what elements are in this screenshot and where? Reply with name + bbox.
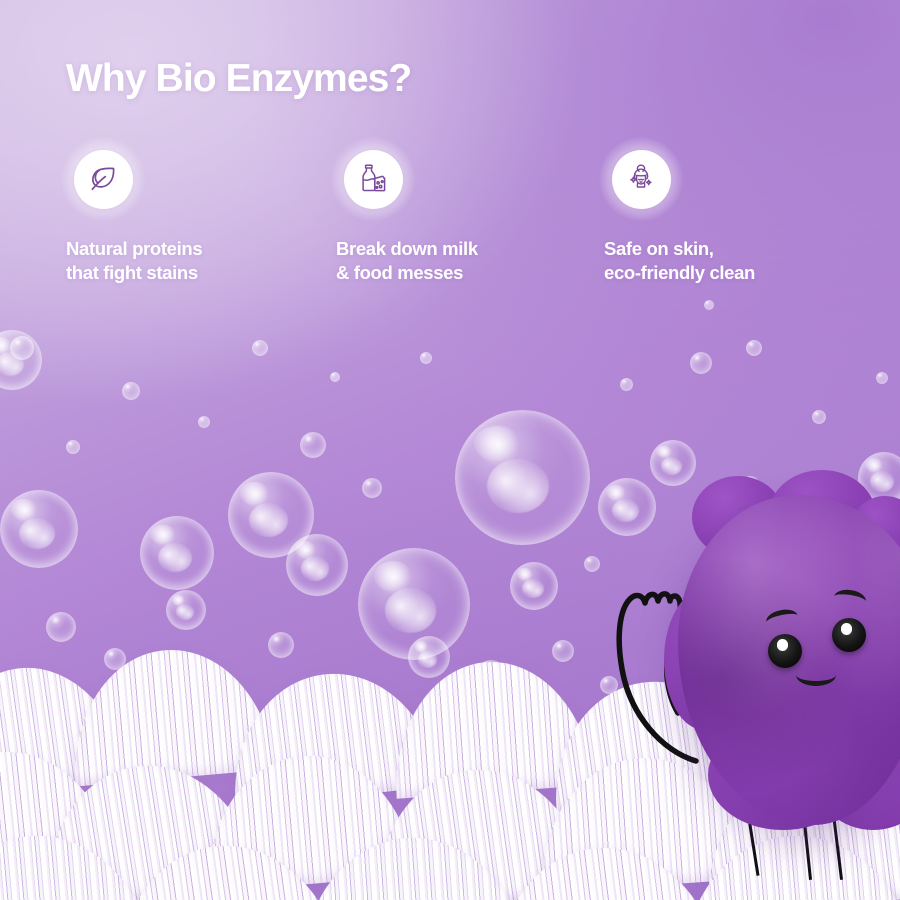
bubble [66, 440, 80, 454]
woman-face-sparkle-icon [624, 162, 658, 196]
bubble [198, 416, 210, 428]
mascot-eye-left [768, 634, 802, 668]
purple-enzyme-blob-mascot [600, 470, 900, 900]
bubble [812, 410, 826, 424]
bubble [510, 562, 558, 610]
icon-circle [344, 150, 403, 209]
bubble [0, 330, 42, 390]
bubble [122, 382, 140, 400]
feature-list: Natural proteins that fight stains [0, 137, 900, 307]
bubble [46, 612, 76, 642]
bubble [140, 516, 214, 590]
feature-label: Break down milk & food messes [336, 237, 586, 284]
bubble [166, 590, 206, 630]
product-feature-poster: Why Bio Enzymes? Natural proteins that f… [0, 0, 900, 900]
icon-halo [599, 137, 683, 221]
leaf-icon [86, 162, 120, 196]
icon-halo [331, 137, 415, 221]
page-title: Why Bio Enzymes? [66, 58, 411, 101]
feature-item-break-down-milk: Break down milk & food messes [336, 137, 586, 284]
feature-label: Natural proteins that fight stains [66, 237, 316, 284]
icon-circle [612, 150, 671, 209]
feature-item-natural-proteins: Natural proteins that fight stains [66, 137, 316, 284]
feature-label: Safe on skin, eco-friendly clean [604, 237, 854, 284]
bubble [584, 556, 600, 572]
bubble [228, 472, 314, 558]
bubble [690, 352, 712, 374]
bubble [252, 340, 268, 356]
icon-circle [74, 150, 133, 209]
mascot-eye-right [832, 618, 866, 652]
bubble [362, 478, 382, 498]
bubble [746, 340, 762, 356]
feature-item-safe-on-skin: Safe on skin, eco-friendly clean [604, 137, 854, 284]
bubble [455, 410, 590, 545]
bubble [286, 534, 348, 596]
mascot-leg [832, 814, 843, 880]
bubble [876, 372, 888, 384]
bubble [420, 352, 432, 364]
mascot-leg [803, 822, 812, 880]
bubble [10, 336, 34, 360]
icon-halo [61, 137, 145, 221]
bubble [0, 490, 78, 568]
bubble [330, 372, 340, 382]
bubble [620, 378, 633, 391]
mascot-smile [796, 664, 836, 686]
milk-bottle-cheese-icon [356, 162, 390, 196]
bubble [300, 432, 326, 458]
